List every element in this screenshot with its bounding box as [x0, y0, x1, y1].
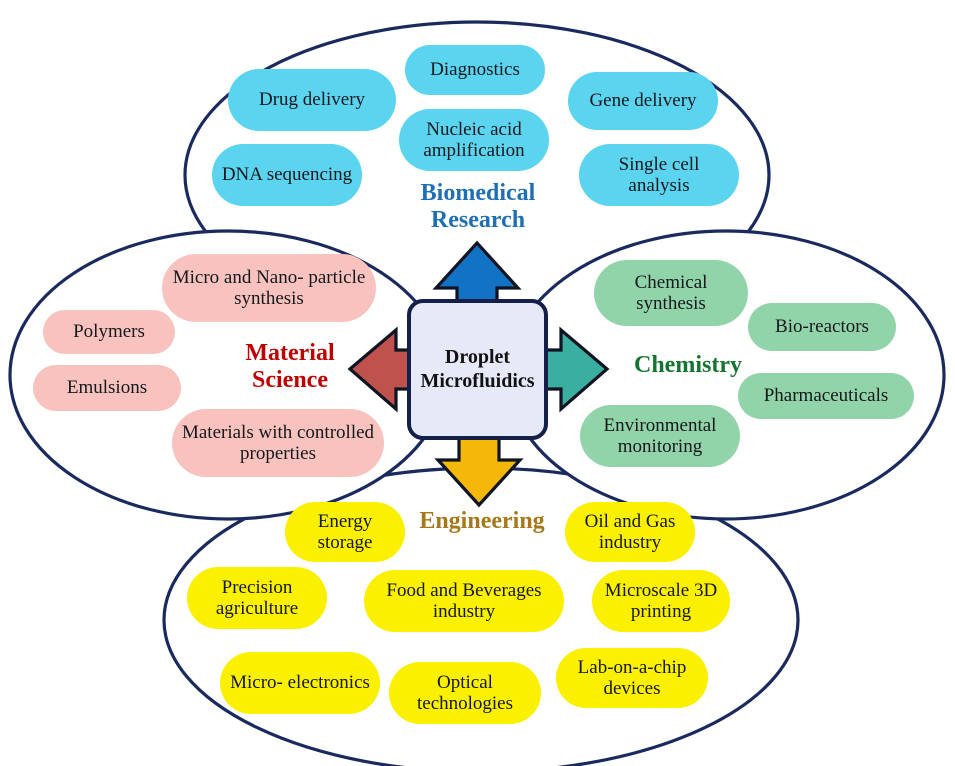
pill-single-cell-analysis[interactable]: Single cell analysis — [579, 144, 739, 206]
pill-environmental-monitoring[interactable]: Environmental monitoring — [580, 405, 740, 467]
pill-drug-delivery[interactable]: Drug delivery — [228, 69, 396, 131]
pill-chemical-synthesis[interactable]: Chemical synthesis — [594, 260, 748, 326]
heading-engineering: Engineering — [406, 508, 558, 535]
heading-chemistry: Chemistry — [620, 352, 756, 379]
heading-material-science: Material Science — [222, 340, 358, 394]
pill-bio-reactors[interactable]: Bio-reactors — [748, 303, 896, 351]
pill-diagnostics[interactable]: Diagnostics — [405, 45, 545, 95]
pill-gene-delivery[interactable]: Gene delivery — [568, 72, 718, 130]
pill-polymers[interactable]: Polymers — [43, 310, 175, 354]
pill-emulsions[interactable]: Emulsions — [33, 365, 181, 411]
pill-dna-sequencing[interactable]: DNA sequencing — [212, 144, 362, 206]
diagram-canvas: Droplet Microfluidics Drug delivery Diag… — [0, 0, 955, 766]
pill-microscale-3d-printing[interactable]: Microscale 3D printing — [592, 570, 730, 632]
pill-micro-and-nano-particle-synthesis[interactable]: Micro and Nano- particle synthesis — [162, 254, 376, 322]
pill-nucleic-acid-amplification[interactable]: Nucleic acid amplification — [399, 109, 549, 171]
pill-food-and-beverages-industry[interactable]: Food and Beverages industry — [364, 570, 564, 632]
pill-lab-on-a-chip-devices[interactable]: Lab-on-a-chip devices — [556, 648, 708, 708]
center-node-label: Droplet Microfluidics — [420, 346, 534, 393]
pill-optical-technologies[interactable]: Optical technologies — [389, 662, 541, 724]
pill-energy-storage[interactable]: Energy storage — [285, 502, 405, 562]
center-node[interactable]: Droplet Microfluidics — [407, 299, 548, 440]
pill-pharmaceuticals[interactable]: Pharmaceuticals — [738, 373, 914, 419]
heading-biomedical-research: Biomedical Research — [402, 180, 554, 234]
pill-oil-and-gas-industry[interactable]: Oil and Gas industry — [565, 502, 695, 562]
pill-precision-agriculture[interactable]: Precision agriculture — [187, 567, 327, 629]
pill-materials-with-controlled-properties[interactable]: Materials with controlled properties — [172, 409, 384, 477]
pill-micro-electronics[interactable]: Micro- electronics — [220, 652, 380, 714]
